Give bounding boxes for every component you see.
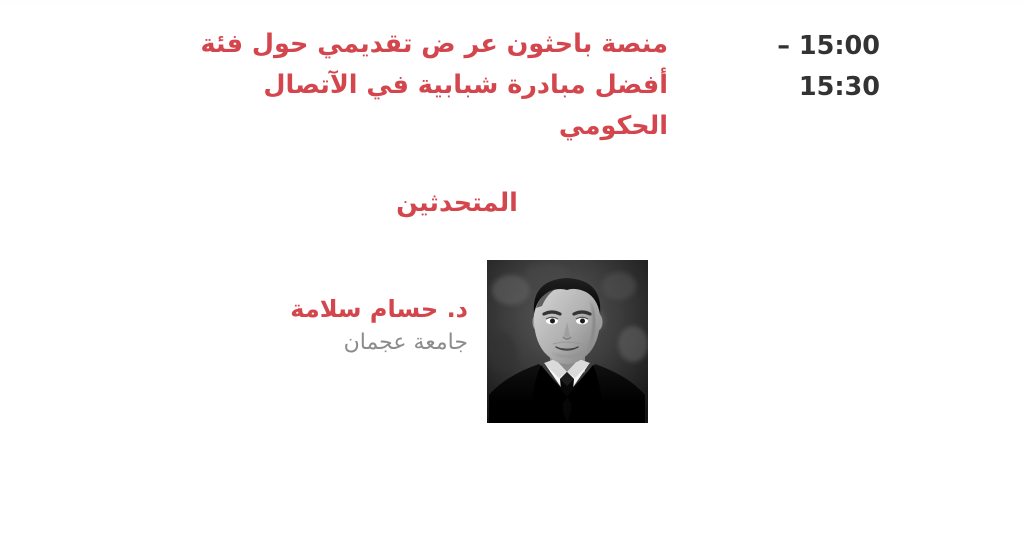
speaker-portrait-photo xyxy=(487,260,648,423)
speaker-affiliation: جامعة عجمان xyxy=(0,326,468,359)
speaker-row: د. حسام سلامة جامعة عجمان xyxy=(0,260,1024,435)
speaker-name: د. حسام سلامة xyxy=(0,292,468,326)
session-time: – 15:00 15:30 xyxy=(690,26,880,108)
session-title: منصة باحثون عر ض تقديمي حول فئة أفضل مبا… xyxy=(123,24,668,147)
speakers-section-heading: المتحدثين xyxy=(0,186,1024,220)
session-header-row: منصة باحثون عر ض تقديمي حول فئة أفضل مبا… xyxy=(0,24,1024,154)
speaker-details: د. حسام سلامة جامعة عجمان xyxy=(0,292,468,359)
session-card: منصة باحثون عر ض تقديمي حول فئة أفضل مبا… xyxy=(0,0,1024,535)
clipped-row-remnant xyxy=(0,0,1024,6)
